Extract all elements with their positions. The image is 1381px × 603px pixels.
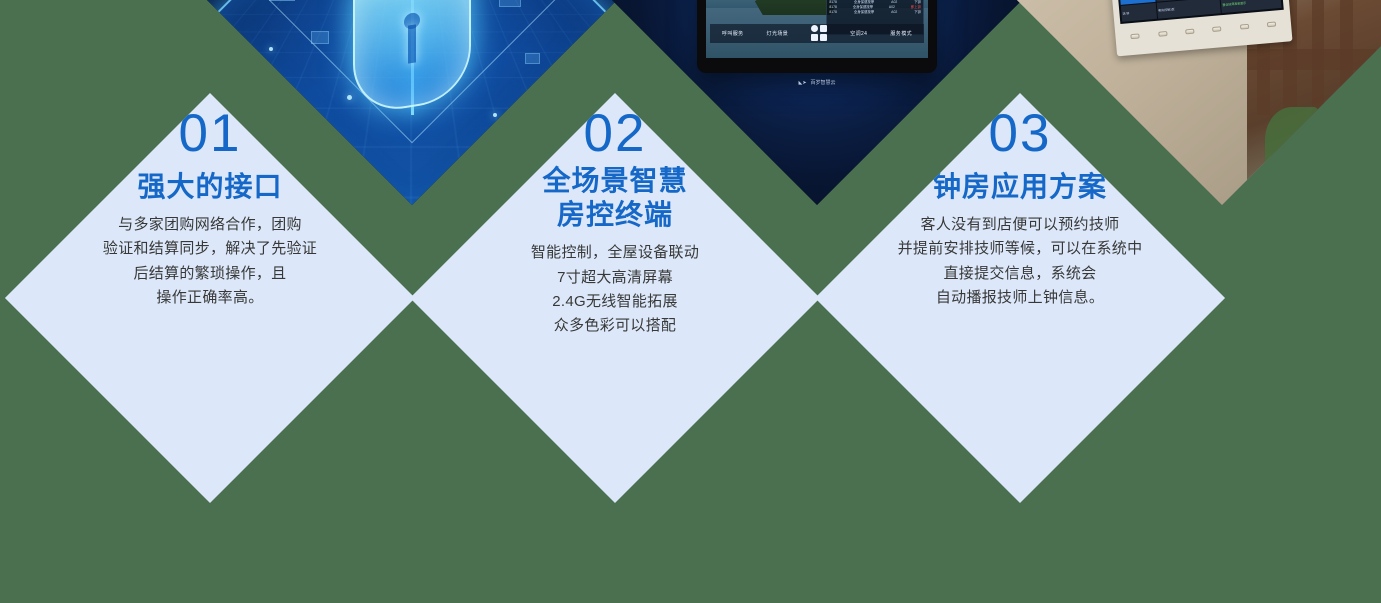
glow-dot [269, 47, 273, 51]
panel-content-03: 03 钟房应用方案 客人没有到店便可以预约技师 并提前安排技师等候，可以在系统中… [815, 93, 1225, 503]
panel-number-01: 01 [179, 107, 242, 160]
brand-logo-icon: ◣➤ [798, 80, 806, 86]
panel-left-item[interactable]: 选 钟 [1121, 3, 1157, 21]
panel-key[interactable] [1131, 33, 1140, 39]
panel-body-02: 智能控制，全屋设备联动 7寸超大高清屏幕 2.4G无线智能拓展 众多色彩可以搭配 [531, 241, 699, 338]
panel-body-01: 与多家团购网络合作，团购 验证和结算同步，解决了先验证 后结算的繁琐操作，且 操… [103, 213, 317, 310]
tablet-device: 22:35 5月6日 晴 15° 11/24 客人 项目 房间 状态 [697, 0, 937, 73]
panel-content-02: 02 全场景智慧 房控终端 智能控制，全屋设备联动 7寸超大高清屏幕 2.4G无… [410, 93, 820, 503]
panel-heading-line: 全场景智慧 [542, 164, 687, 198]
toolbar-button-light-scene[interactable]: 灯光场景 [767, 30, 789, 37]
panel-left-column: 点 钟 CALL钟 圆 钟 排钟区 选 钟 [1115, 0, 1157, 21]
service-list-row[interactable]: 8178 全身保健按摩 A02 下钟 [829, 10, 921, 15]
panel-body-line: 验证和结算同步，解决了先验证 [103, 237, 317, 261]
cell-room: A02 [891, 10, 897, 15]
text-diamond-01: 01 强大的接口 与多家团购网络合作，团购 验证和结算同步，解决了先验证 后结算… [5, 93, 415, 503]
panel-body-line: 操作正确率高。 [103, 286, 317, 310]
panel-body-line: 2.4G无线智能拓展 [531, 290, 699, 314]
panel-heading-03: 钟房应用方案 [933, 170, 1107, 204]
panel-body-line: 并提前安排技师等候，可以在系统中 [898, 237, 1143, 261]
cell-status: 下钟 [914, 10, 921, 15]
grid-icon[interactable] [811, 25, 827, 41]
keyhole-icon [404, 12, 420, 31]
cell-item: 全身保健按摩 [854, 10, 874, 15]
island-shape [755, 0, 835, 15]
panel-body-line: 智能控制，全屋设备联动 [531, 241, 699, 265]
panel-key[interactable] [1213, 26, 1222, 32]
toolbar-button-service-mode[interactable]: 服务模式 [890, 30, 912, 37]
panel-number-02: 02 [584, 107, 647, 160]
chip-block [269, 0, 295, 1]
brand-name: 百岁智慧云 [811, 79, 836, 86]
plant-leaf [1265, 107, 1319, 173]
wood-plank [1247, 49, 1377, 70]
panel-key[interactable] [1240, 23, 1249, 29]
panel-content-01: 01 强大的接口 与多家团购网络合作，团购 验证和结算同步，解决了先验证 后结算… [5, 93, 415, 503]
cell-guest: 8178 [829, 10, 837, 15]
panel-body-line: 众多色彩可以搭配 [531, 314, 699, 338]
panel-number-03: 03 [989, 107, 1052, 160]
panel-body-line: 7寸超大高清屏幕 [531, 266, 699, 290]
chip-block [525, 53, 540, 64]
panel-key[interactable] [1158, 31, 1167, 37]
panel-body-line: 直接提交信息，系统会 [898, 262, 1143, 286]
glow-dot [493, 113, 497, 117]
plant-leaf [1308, 139, 1355, 196]
panel-body-line: 客人没有到店便可以预约技师 [898, 213, 1143, 237]
panel-key[interactable] [1185, 28, 1194, 34]
toolbar-button-air-conditioner[interactable]: 空调24 [850, 30, 867, 37]
panel-heading-02: 全场景智慧 房控终端 [542, 164, 687, 232]
panel-key[interactable] [1267, 21, 1276, 27]
tablet-brand: ◣➤ 百岁智慧云 [697, 79, 937, 86]
text-diamond-03: 03 钟房应用方案 客人没有到店便可以预约技师 并提前安排技师等候，可以在系统中… [815, 93, 1225, 503]
diamond-grid-layout: 22:35 5月6日 晴 15° 11/24 客人 项目 房间 状态 [0, 0, 1381, 603]
glow-dot [347, 95, 352, 100]
tablet-toolbar: 呼叫服务 灯光场景 空调24 服务模式 [710, 24, 923, 43]
panel-heading-line: 房控终端 [542, 198, 687, 232]
tablet-screen: 22:35 5月6日 晴 15° 11/24 客人 项目 房间 状态 [706, 0, 928, 58]
chip-block [499, 0, 521, 7]
toolbar-button-call-service[interactable]: 呼叫服务 [722, 30, 744, 37]
panel-body-line: 后结算的繁琐操作，且 [103, 262, 317, 286]
panel-body-03: 客人没有到店便可以预约技师 并提前安排技师等候，可以在系统中 直接提交信息，系统… [898, 213, 1143, 310]
chip-block [311, 31, 329, 44]
panel-heading-01: 强大的接口 [137, 170, 282, 204]
panel-body-line: 与多家团购网络合作，团购 [103, 213, 317, 237]
text-diamond-02: 02 全场景智慧 房控终端 智能控制，全屋设备联动 7寸超大高清屏幕 2.4G无… [410, 93, 820, 503]
panel-body-line: 自动播报技师上钟信息。 [898, 286, 1143, 310]
